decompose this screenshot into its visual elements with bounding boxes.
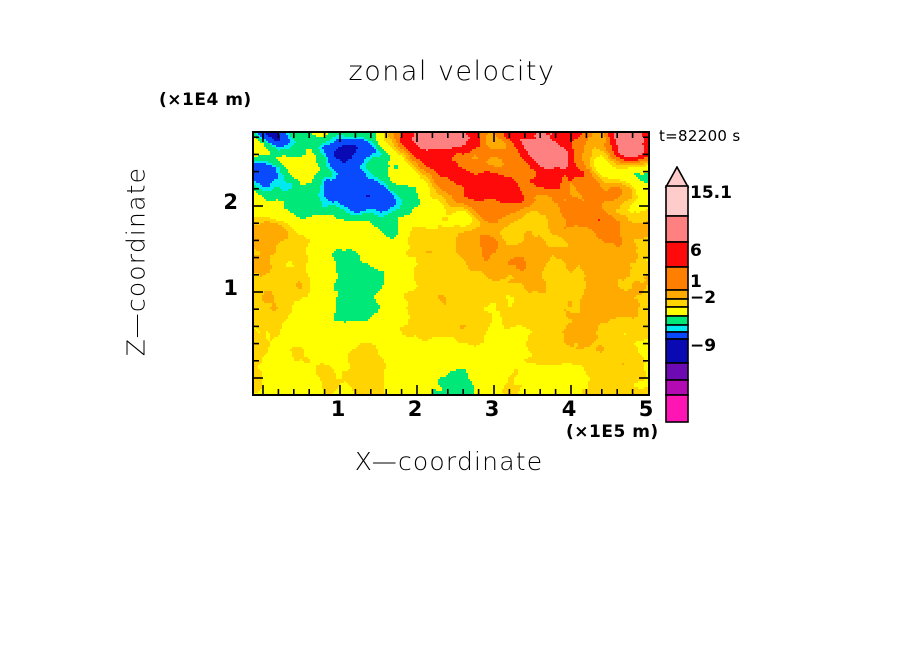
x-axis-unit-label: (×1E5 m) [566,422,659,442]
contour-plot-area [252,131,650,396]
colorbar-label-3: −2 [690,288,716,308]
colorbar-label-0: 15.1 [690,183,732,203]
x-tick-label-4: 5 [631,397,661,421]
y-tick-label-0: 2 [214,190,238,214]
timestamp-annotation: t=82200 s [659,127,740,145]
colorbar-label-4: −9 [690,336,716,356]
colorbar [663,166,693,424]
x-tick-label-2: 3 [477,397,507,421]
x-tick-label-0: 1 [323,397,353,421]
y-tick-label-1: 1 [214,276,238,300]
x-axis-label: X—coordinate [252,447,646,476]
axis-tick-marks [254,133,648,394]
y-axis-label: Z—coordinate [122,112,151,412]
x-tick-label-1: 2 [400,397,430,421]
page-title: zonal velocity [0,56,904,87]
colorbar-label-1: 6 [690,241,702,261]
y-axis-unit-label: (×1E4 m) [159,90,252,110]
x-tick-label-3: 4 [554,397,584,421]
